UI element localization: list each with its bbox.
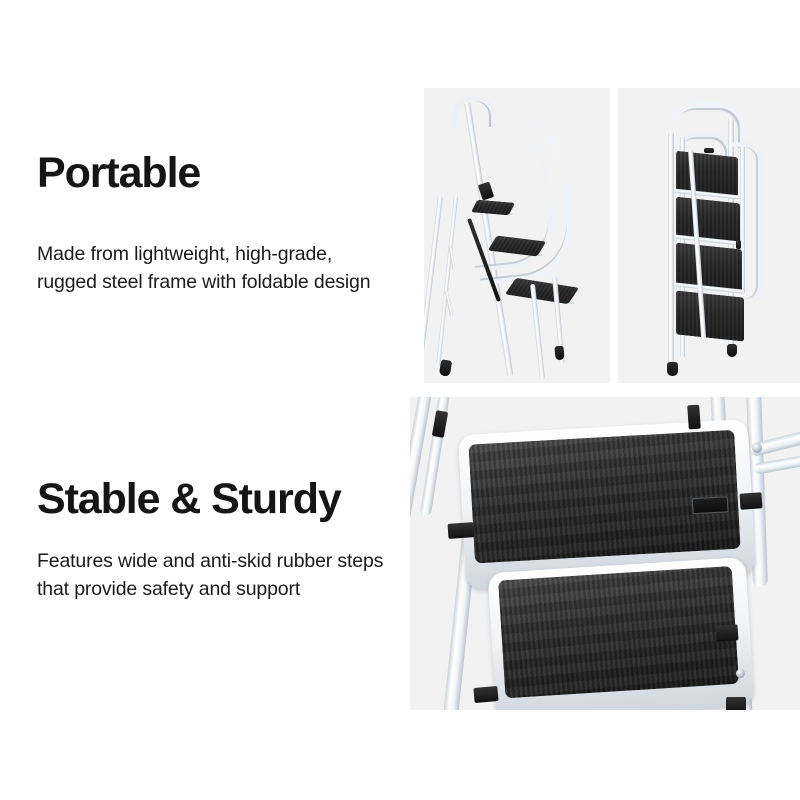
product-photo-steps-closeup [410, 397, 800, 710]
step-edge-clip [726, 697, 746, 710]
ladder-foot [554, 346, 564, 361]
step-edge-clip [448, 522, 475, 539]
step-edge-clip [473, 686, 498, 703]
frame-rivet [752, 443, 762, 453]
ladder-side-view-illustration [424, 88, 610, 383]
ladder-folded-illustration [618, 88, 800, 383]
ladder-foot [439, 359, 452, 377]
frame-rivet [736, 669, 745, 678]
feature-body-portable: Made from lightweight, high-grade, rugge… [37, 240, 397, 297]
ladder-foot [727, 344, 737, 357]
feature-heading-portable: Portable [37, 152, 397, 196]
feature-heading-stable-sturdy: Stable & Sturdy [37, 478, 397, 522]
product-photo-ladder-side-view [424, 88, 610, 383]
step-edge-clip [687, 405, 701, 430]
step-plate-lower [488, 557, 755, 710]
step-edge-clip [432, 410, 448, 438]
step-rubber-surface-lower [498, 566, 739, 698]
feature-block-stable-sturdy: Stable & Sturdy Features wide and anti-s… [37, 478, 397, 603]
feature-block-portable: Portable Made from lightweight, high-gra… [37, 152, 397, 296]
feature-text-column: Portable Made from lightweight, high-gra… [0, 0, 410, 800]
product-feature-sheet: Portable Made from lightweight, high-gra… [0, 0, 800, 800]
step-rubber-surface-upper [468, 430, 740, 564]
step-edge-clip [715, 624, 738, 641]
steps-closeup-illustration [410, 397, 800, 710]
product-photo-ladder-folded-view [618, 88, 800, 383]
feature-body-stable-sturdy: Features wide and anti-skid rubber steps… [37, 547, 397, 604]
step-edge-clip [739, 492, 762, 509]
step-brand-tag [692, 496, 729, 514]
ladder-foot [667, 362, 678, 376]
